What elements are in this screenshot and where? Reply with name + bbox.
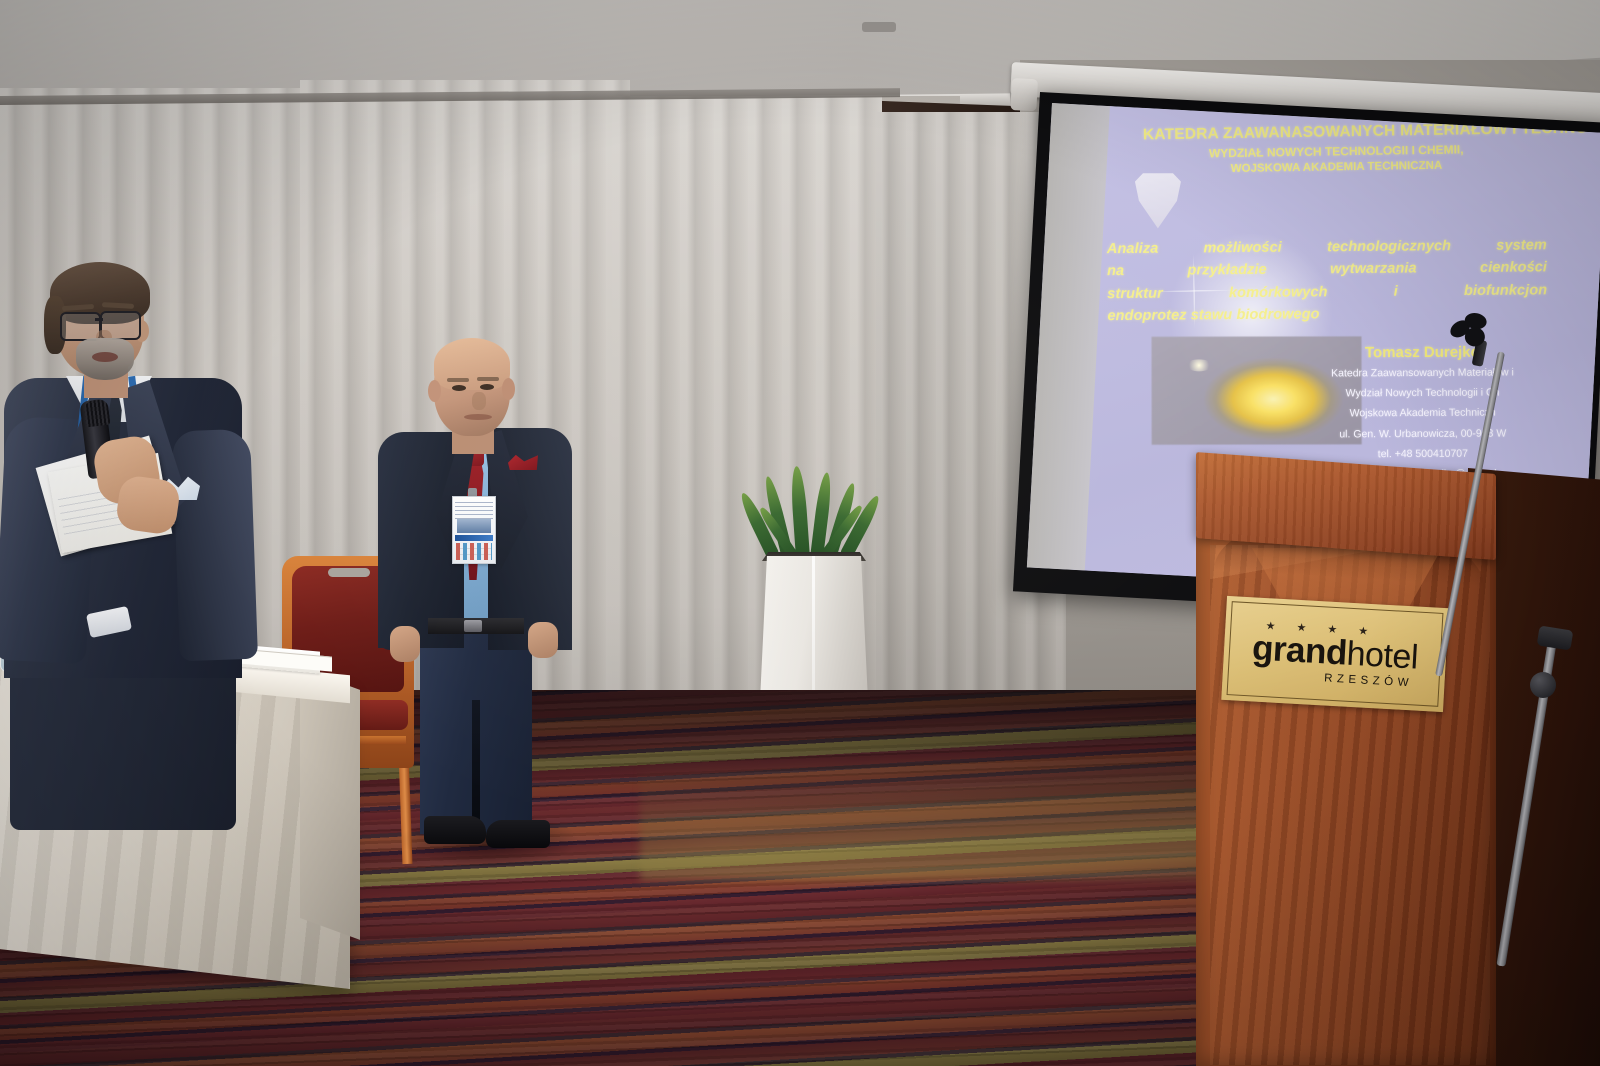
mic-stand-adjust-knob[interactable] (1530, 672, 1556, 698)
plaque-word-grand: grand (1251, 630, 1348, 670)
title-w9: struktur (1107, 283, 1163, 306)
presenter-ear-left (428, 380, 441, 402)
moderator-hand-on-papers (115, 474, 182, 536)
presenter-shoe-right (486, 820, 550, 848)
title-w5: na (1107, 260, 1124, 283)
title-w4: system (1496, 234, 1547, 257)
presenter-eye-left (452, 385, 466, 391)
ceiling-vent-icon (862, 22, 896, 32)
moderator-mouth (92, 352, 118, 362)
title-w11: i (1394, 281, 1398, 304)
author-address: ul. Gen. W. Urbanowicza, 00-908 W (1298, 426, 1548, 443)
title-w3: technologicznych (1327, 235, 1451, 259)
presenter-nose (472, 392, 486, 410)
title-w7: wytwarzania (1330, 258, 1417, 281)
plaque-word-hotel: hotel (1346, 637, 1419, 675)
university-crest-icon (1133, 171, 1181, 229)
eyeglasses-bridge (95, 318, 103, 321)
head-table-side (300, 668, 360, 940)
title-w12: biofunkcjon (1464, 279, 1547, 302)
author-affiliation-3: Wojskowa Akademia Techniczn (1298, 406, 1548, 423)
badge-text-lines (455, 499, 493, 519)
presenter-eyebrow-left (447, 378, 469, 382)
microphone-grille-icon (84, 399, 111, 428)
moderator-arm-right (172, 429, 258, 662)
conference-badge (452, 496, 496, 564)
author-phone: tel. +48 500410707 (1298, 446, 1548, 463)
title-w10: komórkowych (1229, 281, 1328, 304)
conference-room-photo: KATEDRA ZAAWANASOWANYCH MATERIAŁÓW I TEC… (0, 0, 1600, 1066)
presenter-mouth (464, 414, 492, 420)
title-w2: możliwości (1203, 237, 1282, 260)
chair-center-handle-slot (328, 568, 370, 577)
presenter-hand-right (528, 622, 558, 658)
badge-photo-strip (457, 519, 491, 533)
author-name: Tomasz Durejko (1297, 343, 1547, 361)
title-w1: Analiza (1107, 238, 1159, 261)
projection-screen-endcap (1010, 78, 1038, 111)
title-w6: przykładzie (1187, 259, 1266, 282)
badge-blue-bar (455, 535, 493, 541)
author-affiliation-1: Katedra Zaawansowanych Materiałów i (1297, 365, 1547, 382)
presenter-eye-right (480, 384, 494, 390)
gooseneck-microphone-icon[interactable] (1448, 311, 1492, 350)
presenter-eyebrow-right (477, 377, 499, 381)
title-w8: cienkości (1480, 257, 1547, 280)
slide-figure-highlight (1186, 359, 1212, 371)
hotel-plaque: ★ ★ ★ ★ grand hotel RZESZÓW (1221, 596, 1448, 712)
presenter-belt-buckle (464, 620, 482, 632)
author-affiliation-2: Wydział Nowych Technologii i Ch (1298, 386, 1548, 403)
presenter-leg-separation (472, 700, 480, 834)
presenter-shoe-left (424, 816, 486, 844)
eyeglasses-lens-left (60, 312, 101, 341)
presenter-bald-scalp (434, 338, 510, 390)
slide-header: KATEDRA ZAAWANASOWANYCH MATERIAŁÓW I TEC… (1121, 120, 1552, 177)
plant-foliage (762, 472, 872, 558)
presenter-ear-right (502, 378, 515, 400)
presenter-hand-left (390, 626, 420, 662)
badge-sponsor-logos (456, 543, 492, 560)
